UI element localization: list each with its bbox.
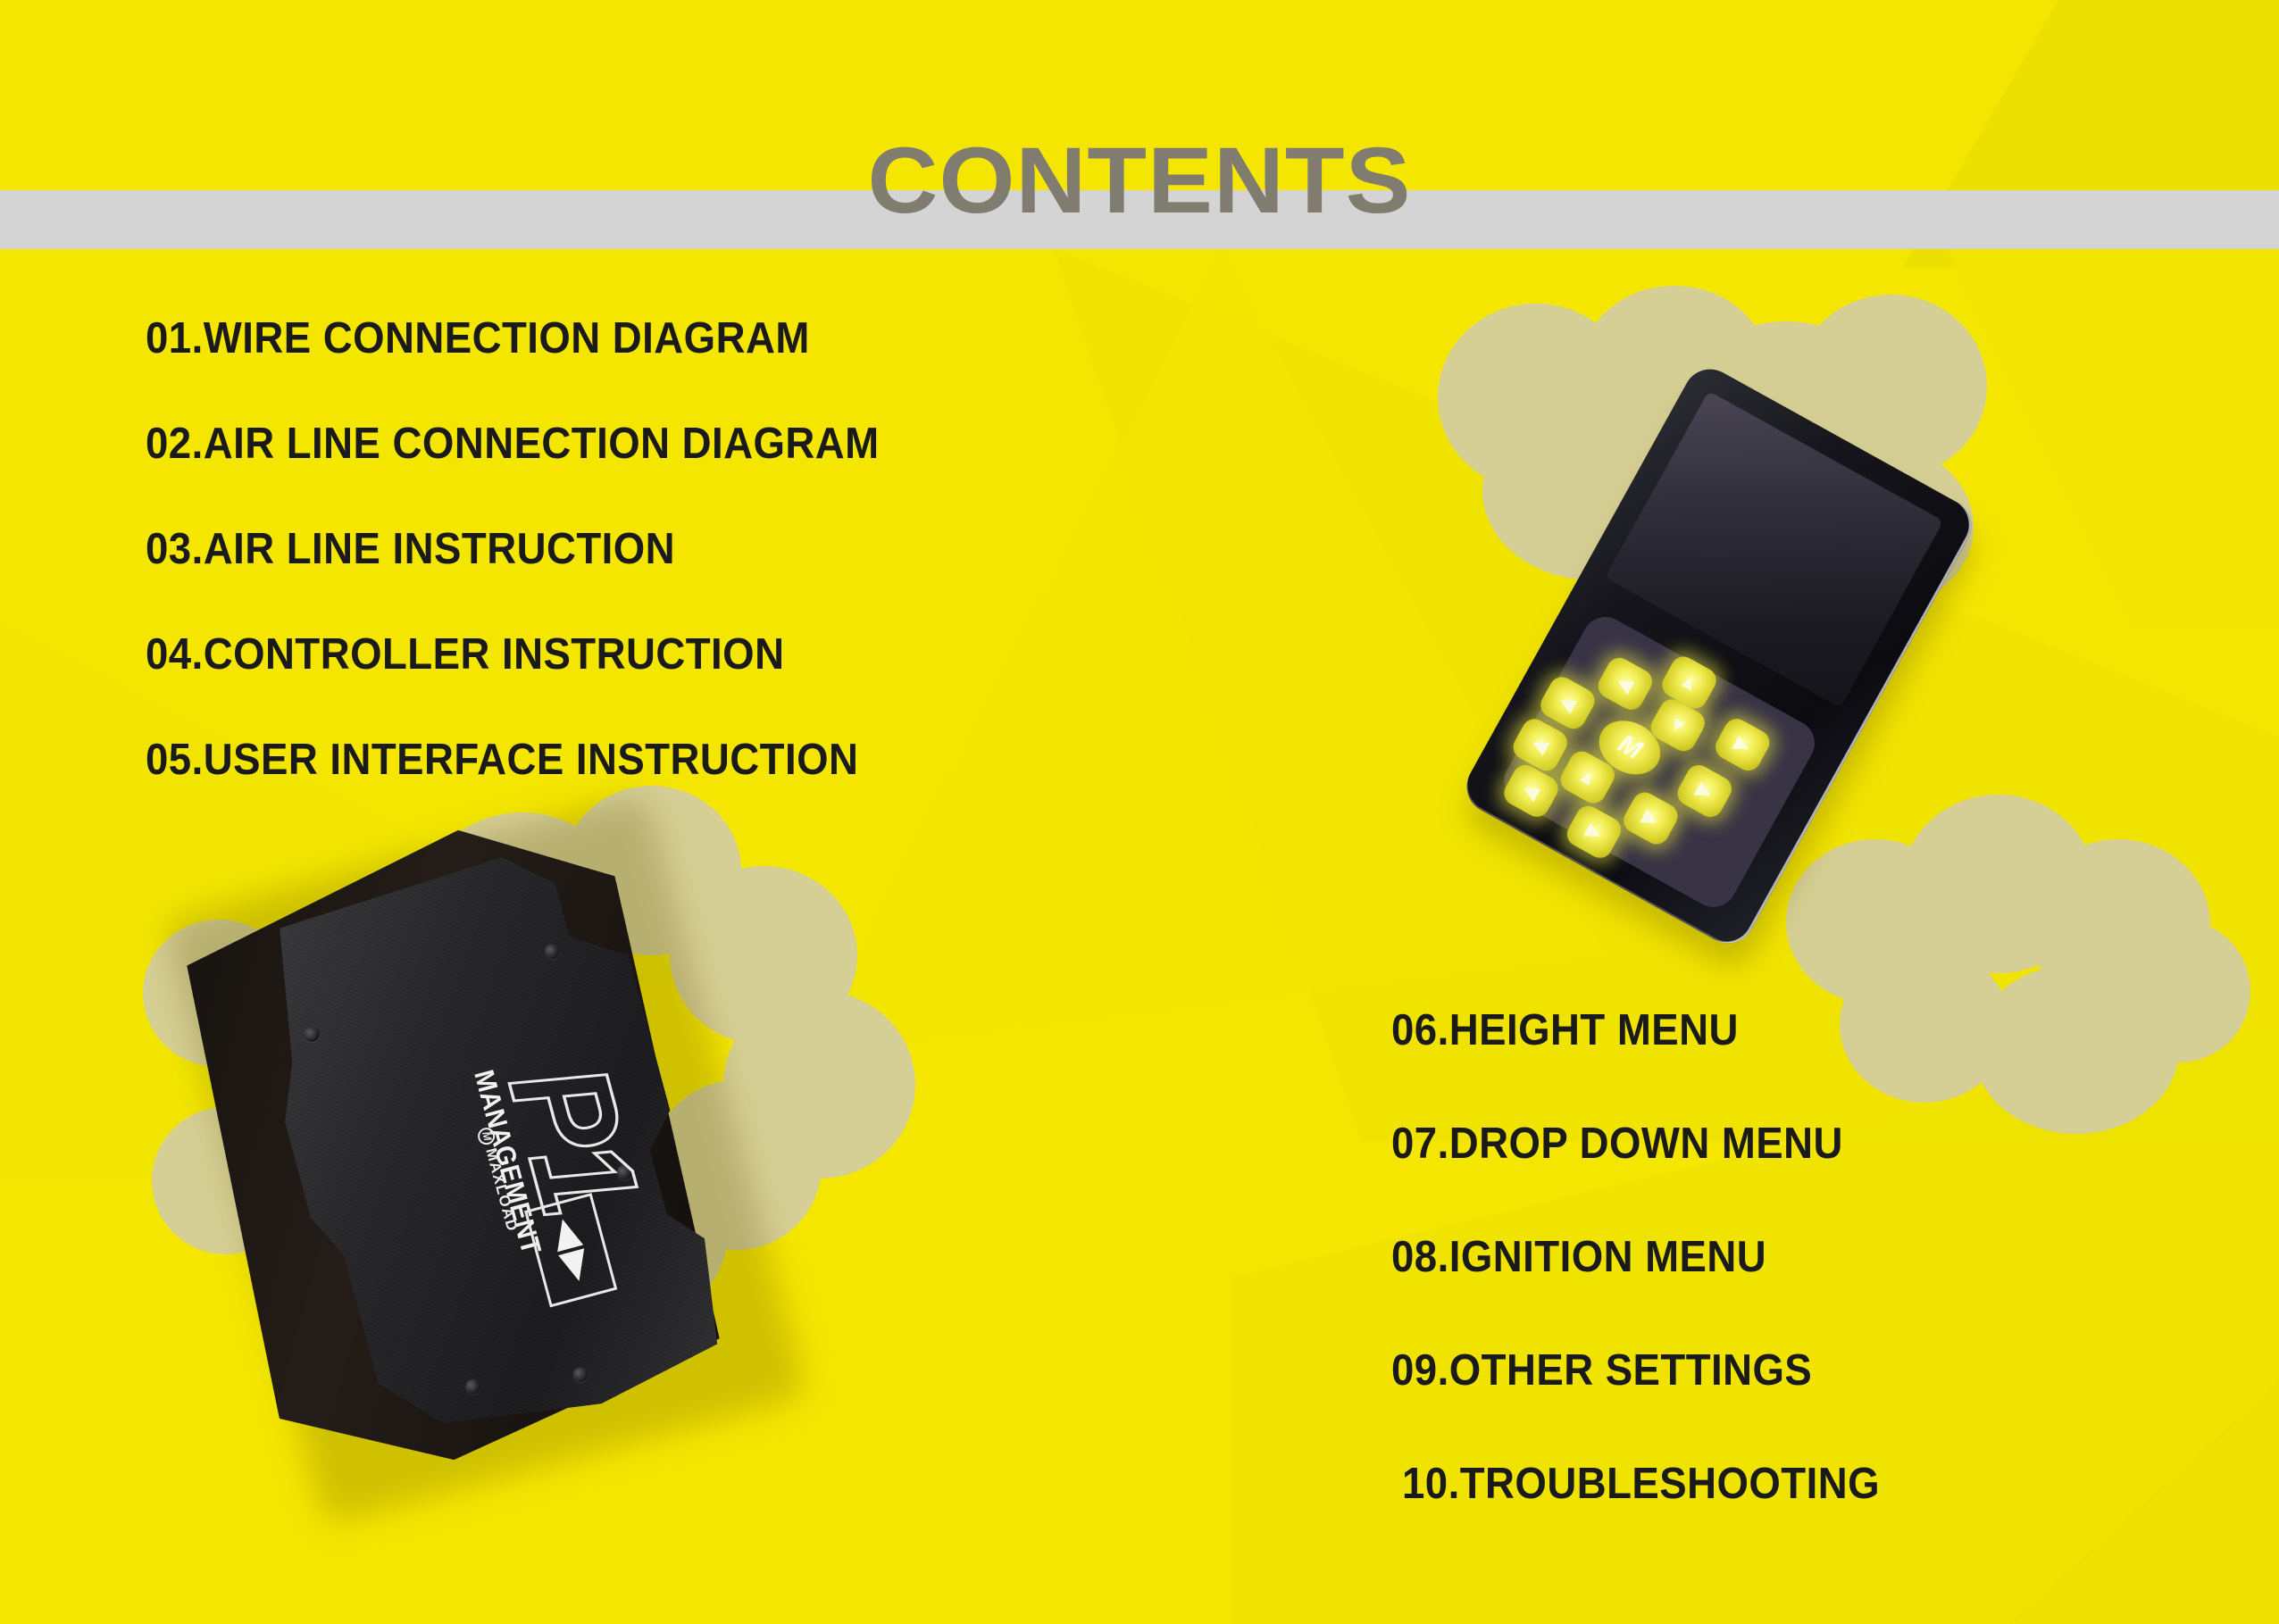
contents-list-right: 06.HEIGHT MENU 07.DROP DOWN MENU 08.IGNI… bbox=[1391, 1009, 1916, 1576]
arrow-right-key-3[interactable]: ▶ bbox=[1619, 788, 1682, 849]
arrow-right-key-4[interactable]: ▶ bbox=[1563, 802, 1626, 862]
contents-item-09[interactable]: 09.OTHER SETTINGS bbox=[1391, 1349, 1879, 1393]
arrow-right-key-2[interactable]: ▶ bbox=[1673, 761, 1736, 821]
screw-top-right bbox=[543, 942, 562, 961]
maxload-m-icon: M bbox=[477, 1126, 497, 1146]
contents-list-left: 01.WIRE CONNECTION DIAGRAM 02.AIR LINE C… bbox=[146, 317, 934, 844]
page-title: CONTENTS bbox=[0, 134, 2279, 228]
screw-bottom-right bbox=[572, 1365, 590, 1384]
contents-item-03[interactable]: 03.AIR LINE INSTRUCTION bbox=[146, 528, 880, 571]
screw-bottom-left bbox=[463, 1378, 482, 1396]
arrow-right-key[interactable]: ▶ bbox=[1711, 714, 1774, 775]
contents-item-10[interactable]: 10.TROUBLESHOOTING bbox=[1402, 1462, 1880, 1506]
screw-top-left bbox=[303, 1025, 321, 1044]
contents-item-05[interactable]: 05.USER INTERFACE INSTRUCTION bbox=[146, 738, 880, 782]
dual-arrow-badge bbox=[524, 1193, 617, 1307]
contents-item-02[interactable]: 02.AIR LINE CONNECTION DIAGRAM bbox=[146, 422, 880, 466]
contents-item-01[interactable]: 01.WIRE CONNECTION DIAGRAM bbox=[146, 317, 880, 361]
contents-item-08[interactable]: 08.IGNITION MENU bbox=[1391, 1236, 1879, 1279]
arrow-right-icon bbox=[558, 1248, 592, 1285]
arrow-left-key-4[interactable]: ◀ bbox=[1499, 761, 1563, 821]
arrow-left-key[interactable]: ◀ bbox=[1594, 654, 1657, 714]
arrow-left-icon bbox=[549, 1216, 583, 1253]
slide-canvas: CONTENTS ▲ ◀ ▼ ▶ ◀ M ▶ ◀ ▲ ▶ ◀ ▶ bbox=[0, 0, 2279, 1624]
contents-item-07[interactable]: 07.DROP DOWN MENU bbox=[1391, 1122, 1879, 1166]
contents-item-06[interactable]: 06.HEIGHT MENU bbox=[1391, 1009, 1879, 1053]
contents-item-04[interactable]: 04.CONTROLLER INSTRUCTION bbox=[146, 633, 880, 677]
